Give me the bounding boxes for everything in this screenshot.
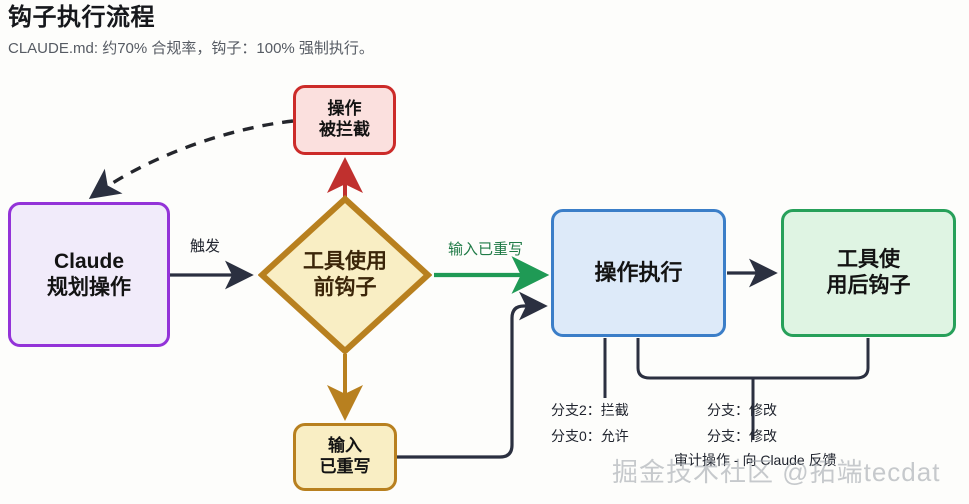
node-operation-executes[interactable]: 操作执行	[551, 209, 726, 337]
node-rewrite-label-line1: 输入	[320, 436, 371, 457]
node-claude-label-line1: Claude	[47, 249, 131, 275]
edge-label-branch-modify-2: 分支：修改	[707, 427, 777, 446]
node-pretool-label-line1: 工具使用	[258, 249, 432, 275]
edge-label-branch-modify-1: 分支：修改	[707, 401, 777, 420]
edge-label-trigger: 触发	[190, 237, 220, 257]
node-rewrite-label-line2: 已重写	[320, 457, 371, 478]
watermark: 掘金技术社区 @拓端tecdat	[612, 452, 940, 489]
node-posttool-label-line1: 工具使	[827, 247, 911, 273]
node-operation-blocked[interactable]: 操作 被拦截	[293, 85, 396, 155]
node-blocked-label-line1: 操作	[319, 99, 370, 120]
edge-blocked-to-claude	[93, 121, 293, 196]
edge-exec-branch-modify	[638, 338, 868, 378]
node-claude-label-line2: 规划操作	[47, 275, 131, 301]
node-blocked-label-line2: 被拦截	[319, 120, 370, 141]
node-pretool-label-line2: 前钩子	[258, 275, 432, 301]
node-claude-plans-operation[interactable]: Claude 规划操作	[8, 202, 170, 347]
node-exec-label: 操作执行	[594, 260, 682, 287]
node-pretooluse-hook[interactable]: 工具使用 前钩子	[258, 195, 432, 355]
edge-label-branch0-allow: 分支0：允许	[551, 427, 629, 446]
edge-label-branch2-block: 分支2：拦截	[551, 401, 629, 420]
edge-label-input-rewritten: 输入已重写	[448, 240, 523, 260]
node-posttool-label-line2: 用后钩子	[827, 273, 911, 299]
node-posttooluse-hook[interactable]: 工具使 用后钩子	[781, 209, 956, 337]
node-input-rewritten[interactable]: 输入 已重写	[293, 423, 397, 491]
